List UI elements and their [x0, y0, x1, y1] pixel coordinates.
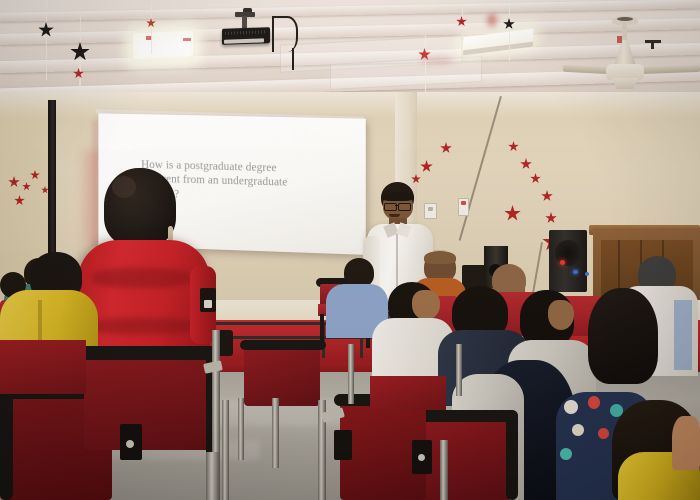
star-hanging-string — [425, 36, 426, 48]
presenter-mouth — [389, 214, 400, 217]
presenter-hairline — [381, 192, 414, 201]
ceiling-light-icon — [133, 30, 193, 59]
loudspeaker — [549, 230, 587, 292]
projector-cable — [292, 48, 294, 70]
light-indicator — [183, 38, 191, 41]
hair-highlight — [112, 176, 136, 198]
star-hanging-string — [509, 0, 510, 18]
chair-frame-tube — [0, 386, 13, 500]
screen-shadow — [92, 120, 98, 248]
auditorium-chair-back[interactable] — [420, 416, 512, 500]
chair-frame-tube — [78, 346, 220, 360]
floral-pattern — [560, 448, 572, 460]
chair-frame-tube — [506, 410, 518, 500]
audience-head-highlight — [424, 251, 456, 264]
chair-leg — [238, 398, 244, 460]
ceiling-hook-icon — [651, 40, 654, 49]
glasses-bridge-icon — [395, 205, 399, 206]
status-led-indicator — [585, 272, 589, 276]
glasses-icon — [398, 203, 411, 211]
projector-cable — [272, 16, 298, 52]
floral-pattern — [572, 424, 584, 436]
wall-pillar — [48, 100, 56, 270]
chair-frame-tube — [414, 410, 518, 422]
star-hanging-string — [509, 30, 510, 61]
audience-face — [548, 300, 574, 330]
floral-pattern — [598, 428, 609, 439]
chair-leg — [206, 452, 220, 500]
dress-fold — [86, 318, 200, 334]
star-hanging-string — [80, 14, 81, 42]
star-hanging-string — [462, 27, 463, 56]
auditorium-photo: How is a postgraduate degree different f… — [0, 0, 700, 500]
projector-icon — [222, 27, 270, 45]
audience-sleeve — [674, 300, 692, 370]
chair-leg — [440, 440, 448, 500]
star-hanging-string — [462, 0, 463, 16]
wall-switch-plate[interactable] — [458, 198, 469, 216]
audience-head — [344, 258, 374, 287]
chair-bracket — [334, 430, 352, 460]
star-hanging-string — [46, 0, 47, 22]
audience-face — [412, 290, 440, 320]
chair-bolt — [418, 454, 425, 461]
chair-frame-tube — [240, 340, 326, 350]
star-hanging-string — [46, 38, 47, 80]
floral-pattern — [564, 400, 578, 414]
auditorium-chair-seat[interactable] — [0, 340, 86, 394]
chair-leg — [456, 344, 462, 396]
dress-fold — [92, 268, 192, 288]
chair-leg — [272, 398, 279, 468]
ceiling-fan-rod — [622, 22, 627, 42]
chair-bolt — [126, 440, 134, 448]
ceiling-stain — [487, 14, 497, 28]
star-hanging-string — [79, 62, 80, 68]
ceiling-fan-motor — [606, 64, 644, 80]
audience-hair — [588, 288, 658, 384]
auditorium-chair-back[interactable] — [84, 352, 214, 450]
star-hanging-string — [425, 61, 426, 95]
chair-leg — [212, 330, 220, 456]
floral-pattern — [588, 396, 600, 409]
ceiling — [0, 0, 700, 100]
chair-leg — [348, 344, 354, 404]
status-led-indicator — [573, 270, 578, 274]
auditorium-chair-back[interactable] — [244, 344, 320, 406]
fan-marker — [617, 36, 622, 43]
star-hanging-string — [151, 0, 152, 18]
audience-face — [672, 416, 700, 470]
auditorium-chair-seat[interactable] — [370, 376, 446, 410]
chair-leg — [222, 400, 229, 500]
ceiling-beam — [0, 0, 700, 22]
wall-switch-plate[interactable] — [424, 203, 437, 219]
chair-bracket-plate — [204, 300, 212, 308]
power-led-indicator — [560, 260, 565, 265]
star-hanging-string — [151, 28, 152, 54]
